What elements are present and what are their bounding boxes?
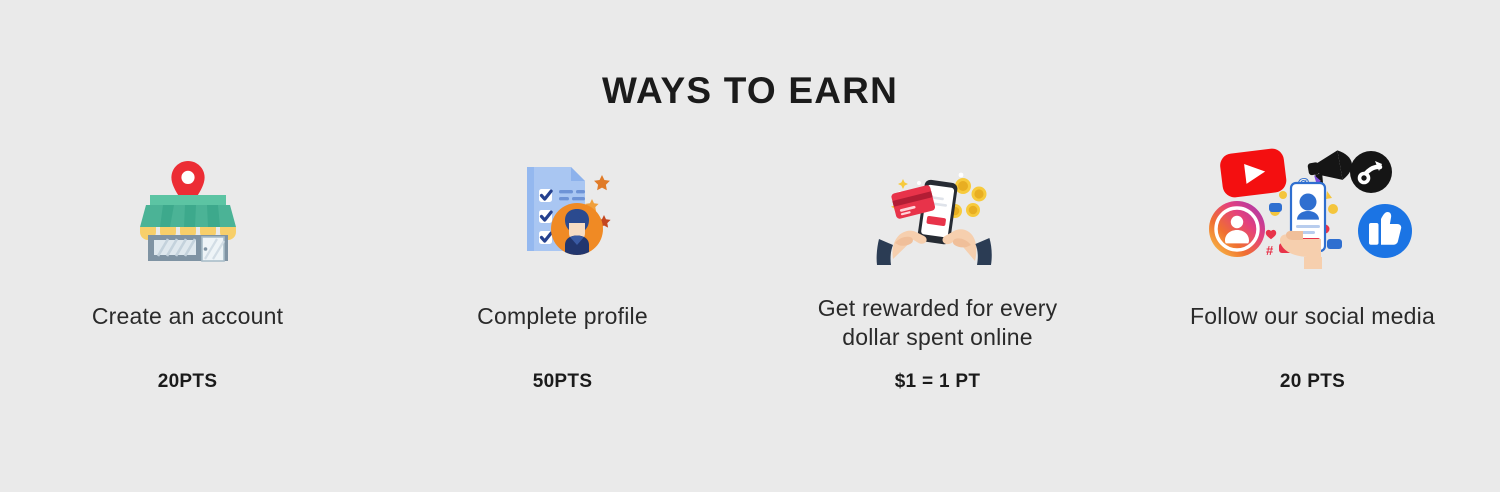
earn-card-label: Follow our social media (1190, 302, 1435, 331)
earn-card-label-line1: Get rewarded for every (818, 294, 1058, 323)
instagram-icon (1209, 201, 1265, 257)
tiktok-circle-icon (1350, 151, 1392, 193)
svg-text:#: # (1266, 243, 1274, 258)
earn-card-points: 50PTS (533, 371, 593, 393)
earn-card-points: 20PTS (158, 371, 218, 393)
page-title: WAYS TO EARN (0, 0, 1500, 109)
ways-to-earn-section: WAYS TO EARN (0, 0, 1500, 492)
earn-card-complete-profile[interactable]: Complete profile 50PTS (375, 149, 750, 393)
earn-card-points: 20 PTS (1280, 371, 1345, 393)
earn-card-label: Complete profile (477, 302, 648, 331)
earn-methods-list: Create an account 20PTS (0, 149, 1500, 393)
earn-card-label: Get rewarded for every dollar spent onli… (818, 294, 1058, 352)
earn-card-create-account[interactable]: Create an account 20PTS (0, 149, 375, 393)
earn-card-get-rewarded[interactable]: Get rewarded for every dollar spent onli… (750, 149, 1125, 393)
storefront-pin-icon (73, 149, 303, 269)
earn-card-follow-social[interactable]: # @ (1125, 149, 1500, 393)
earn-card-points: $1 = 1 PT (895, 371, 981, 393)
earn-card-label: Create an account (92, 302, 283, 331)
social-media-cluster-icon: # @ (1198, 149, 1428, 269)
megaphone-icon (1306, 148, 1355, 187)
youtube-icon (1219, 147, 1288, 198)
thumbs-up-icon (1358, 204, 1412, 258)
mobile-payment-coins-icon (823, 149, 1053, 269)
earn-card-label-line2: dollar spent online (818, 323, 1058, 352)
checklist-profile-icon (448, 149, 678, 269)
